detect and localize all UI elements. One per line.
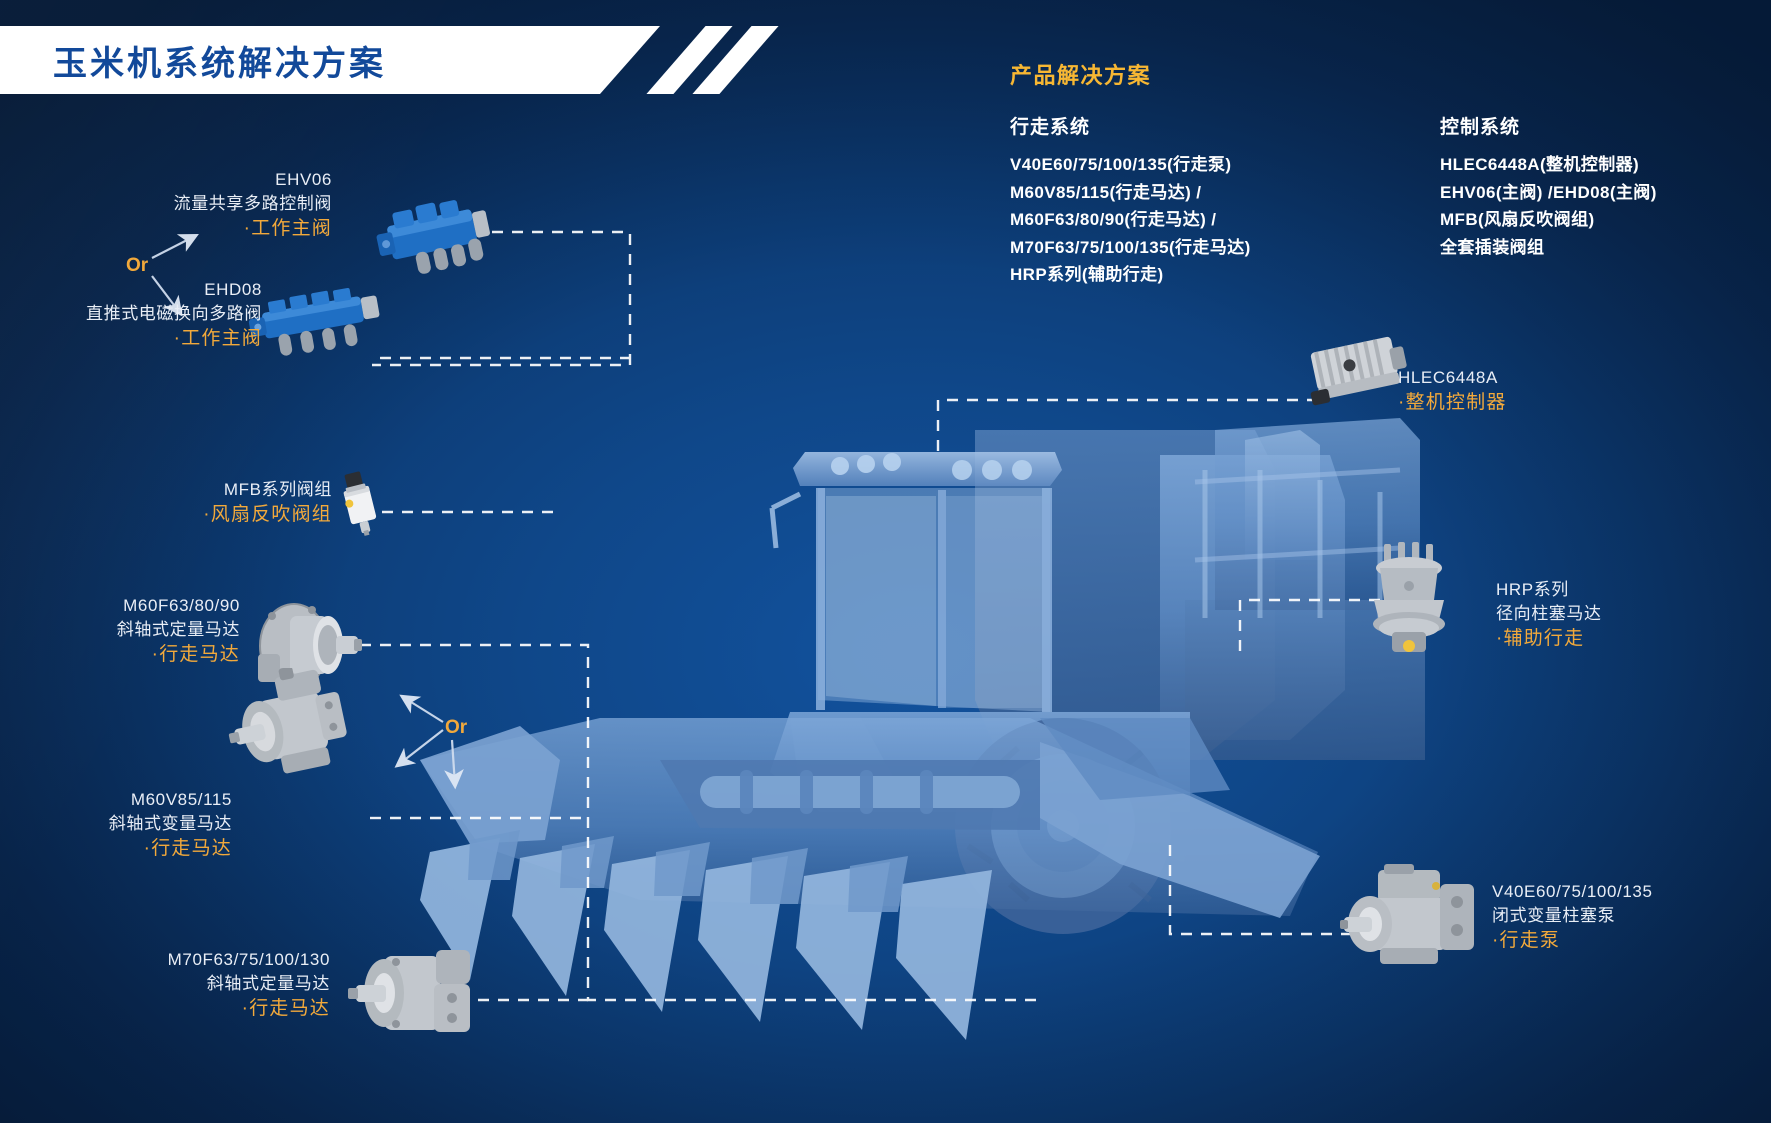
callout-tag: ·辅助行走 [1496, 626, 1756, 653]
callout-code: M60V85/115 [0, 788, 232, 812]
callout-desc: 斜轴式定量马达 [40, 972, 330, 996]
callout-mfb: MFB系列阀组 ·风扇反吹阀组 [60, 478, 332, 529]
callout-code: M60F63/80/90 [0, 594, 240, 618]
callout-m70f: M70F63/75/100/130 斜轴式定量马达 ·行走马达 [40, 948, 330, 1023]
callout-hrp: HRP系列 径向柱塞马达 ·辅助行走 [1496, 578, 1756, 653]
arrow-or-mid-down [452, 740, 455, 785]
callout-v40e: V40E60/75/100/135 闭式变量柱塞泵 ·行走泵 [1492, 880, 1771, 955]
arrow-or-mid-upleft [403, 697, 443, 722]
callout-tag: ·整机控制器 [1398, 390, 1698, 417]
callout-desc: 直推式电磁换向多路阀 [0, 302, 262, 326]
callout-tag: ·工作主阀 [0, 326, 262, 353]
callout-tag: ·行走马达 [40, 996, 330, 1023]
callout-tag: ·工作主阀 [30, 216, 332, 243]
or-label-mid: Or [445, 717, 467, 739]
callout-code: EHD08 [0, 278, 262, 302]
callout-code: HRP系列 [1496, 578, 1756, 602]
callout-ehd08: EHD08 直推式电磁换向多路阀 ·工作主阀 [0, 278, 262, 353]
callout-desc: 闭式变量柱塞泵 [1492, 904, 1771, 928]
arrow-or-mid-downleft [398, 730, 443, 765]
callout-ehv06: EHV06 流量共享多路控制阀 ·工作主阀 [30, 168, 332, 243]
callout-desc: 斜轴式定量马达 [0, 618, 240, 642]
callout-tag: ·行走马达 [0, 836, 232, 863]
callout-tag: ·风扇反吹阀组 [60, 502, 332, 529]
callout-code: EHV06 [30, 168, 332, 192]
callout-code: M70F63/75/100/130 [40, 948, 330, 972]
callout-hlec6448a: HLEC6448A ·整机控制器 [1398, 366, 1698, 417]
callout-m60f: M60F63/80/90 斜轴式定量马达 ·行走马达 [0, 594, 240, 669]
callout-tag: ·行走泵 [1492, 928, 1771, 955]
callout-tag: ·行走马达 [0, 642, 240, 669]
callout-code: MFB系列阀组 [60, 478, 332, 502]
callout-desc: 径向柱塞马达 [1496, 602, 1756, 626]
callout-desc: 斜轴式变量马达 [0, 812, 232, 836]
poster-canvas: 玉米机系统解决方案 产品解决方案 行走系统 V40E60/75/100/135(… [0, 0, 1771, 1123]
callout-m60v: M60V85/115 斜轴式变量马达 ·行走马达 [0, 788, 232, 863]
callout-desc: 流量共享多路控制阀 [30, 192, 332, 216]
callout-code: V40E60/75/100/135 [1492, 880, 1771, 904]
page-title: 玉米机系统解决方案 [53, 36, 386, 85]
callout-code: HLEC6448A [1398, 366, 1698, 390]
or-label-top: Or [126, 255, 148, 277]
